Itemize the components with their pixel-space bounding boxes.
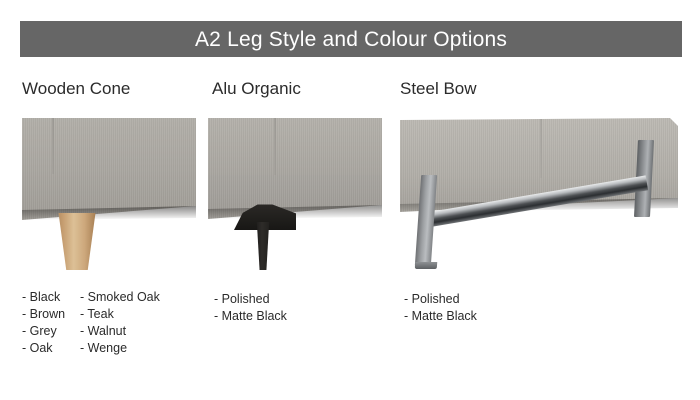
steel-bow-leg-left-foot <box>415 262 437 269</box>
option-list-alu-organic: - Polished - Matte Black <box>214 291 287 325</box>
sofa-seam <box>274 118 276 180</box>
option-item: - Teak <box>80 306 160 323</box>
option-item: - Oak <box>22 340 65 357</box>
page-title: A2 Leg Style and Colour Options <box>195 29 507 50</box>
wooden-cone-leg <box>56 213 98 270</box>
column-heading-alu-organic: Alu Organic <box>212 80 301 97</box>
product-image-wooden-cone <box>22 118 196 270</box>
option-item: - Grey <box>22 323 65 340</box>
sofa-seam <box>52 118 54 180</box>
option-item: - Polished <box>404 291 477 308</box>
option-item: - Walnut <box>80 323 160 340</box>
page-title-bar: A2 Leg Style and Colour Options <box>20 21 682 57</box>
option-item: - Black <box>22 289 65 306</box>
option-list-wooden-cone-group-2: - Smoked Oak - Teak - Walnut - Wenge <box>80 289 160 357</box>
product-image-alu-organic <box>208 118 382 270</box>
option-item: - Brown <box>22 306 65 323</box>
sofa-fabric-front <box>22 118 196 175</box>
option-item: - Matte Black <box>214 308 287 325</box>
option-list-wooden-cone-group-1: - Black - Brown - Grey - Oak <box>22 289 65 357</box>
option-item: - Wenge <box>80 340 160 357</box>
leg-options-page: A2 Leg Style and Colour Options Wooden C… <box>0 0 700 400</box>
option-item: - Polished <box>214 291 287 308</box>
column-heading-wooden-cone: Wooden Cone <box>22 80 130 97</box>
sofa-fabric-front <box>208 118 382 176</box>
product-image-steel-bow <box>400 118 678 270</box>
option-item: - Matte Black <box>404 308 477 325</box>
option-item: - Smoked Oak <box>80 289 160 306</box>
option-list-steel-bow: - Polished - Matte Black <box>404 291 477 325</box>
column-heading-steel-bow: Steel Bow <box>400 80 477 97</box>
